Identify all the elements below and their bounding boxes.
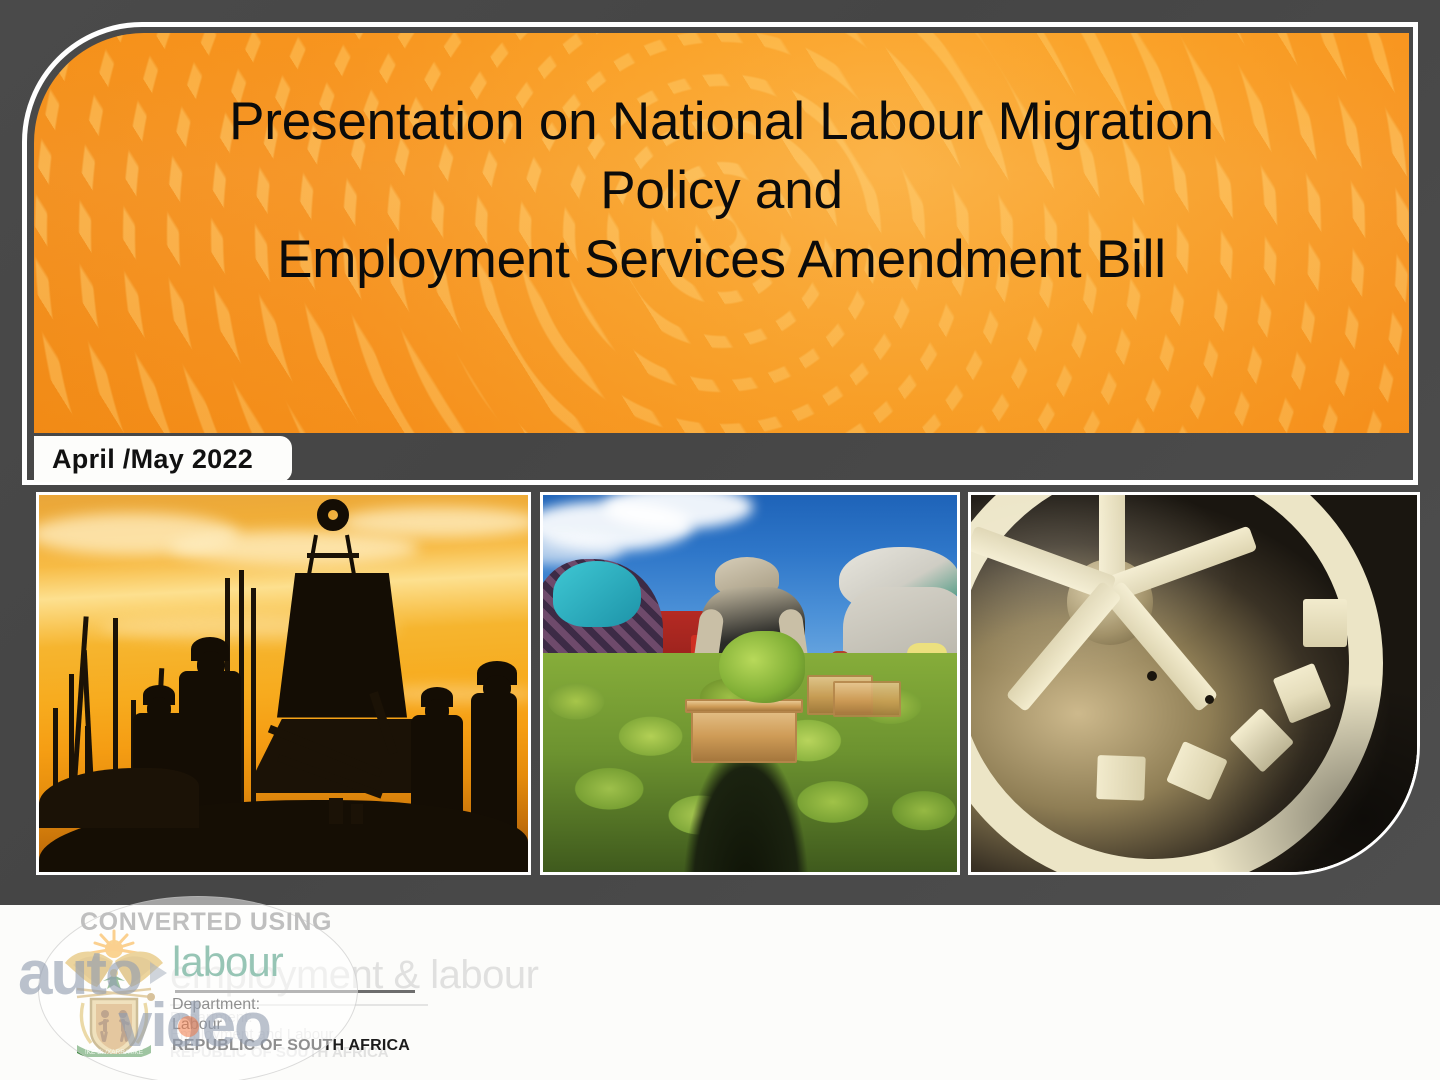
cable-crossbar [307, 553, 359, 558]
labour-logo-line2: Labour [172, 1015, 410, 1035]
slide-stage: Presentation on National Labour Migratio… [0, 0, 1440, 1080]
cloud-2 [169, 531, 419, 565]
labour-logo-line1: Department: [172, 995, 410, 1015]
photo-strip [36, 492, 1420, 875]
gear-lighting [971, 495, 1417, 872]
photo-construction-workers [36, 492, 531, 875]
slide-canvas: Presentation on National Labour Migratio… [0, 0, 1440, 905]
crane-bucket [277, 573, 407, 741]
post-2 [351, 804, 363, 824]
farm-worker-1-headscarf [553, 561, 641, 627]
labour-logo-rule [175, 990, 415, 993]
labour-logo-wordmark: labour [172, 938, 283, 986]
date-tab: April /May 2022 [34, 436, 292, 482]
cloud-3 [339, 507, 531, 537]
svg-text:!KE E: /XARRA //KE: !KE E: /XARRA //KE [85, 1049, 144, 1056]
wooden-crate-lid [685, 699, 803, 713]
page-title: Presentation on National Labour Migratio… [34, 88, 1409, 295]
south-african-coat-of-arms-icon: !KE E: /XARRA //KE [55, 927, 173, 1057]
labour-logo-subtext: Department: Labour REPUBLIC OF SOUTH AFR… [172, 995, 410, 1056]
photo-industrial-gear [968, 492, 1420, 875]
photo-farm-workers [540, 492, 960, 875]
labour-logo-line3: REPUBLIC OF SOUTH AFRICA [172, 1036, 410, 1056]
crane-hook-icon [317, 499, 349, 531]
title-banner: Presentation on National Labour Migratio… [34, 33, 1409, 433]
rebar-12 [251, 588, 256, 826]
date-label: April /May 2022 [34, 444, 253, 475]
lettuce-bundle [719, 631, 805, 703]
field-furrow-shadow [684, 744, 808, 872]
wooden-crate-3 [833, 681, 901, 717]
post-1 [329, 798, 343, 824]
